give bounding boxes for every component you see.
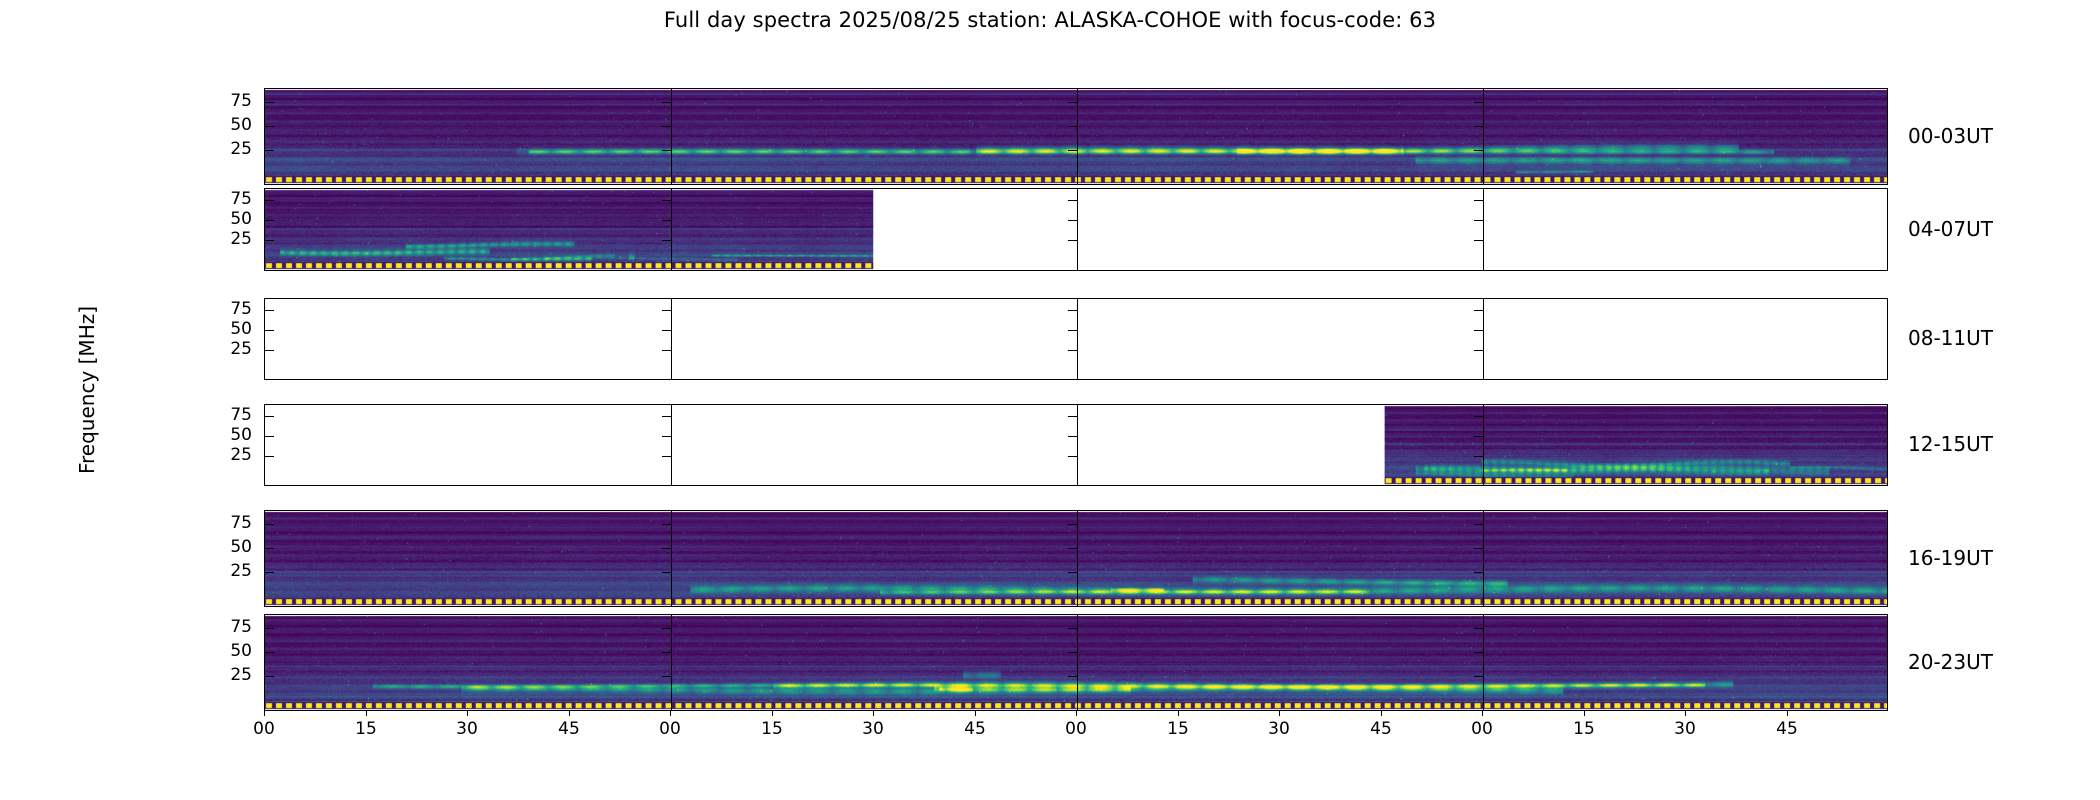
- spectrogram-figure: Full day spectra 2025/08/25 station: ALA…: [0, 0, 2100, 800]
- y-tick-label: 50: [212, 537, 252, 557]
- y-tick-label: 75: [212, 91, 252, 111]
- row-label-20-23ut: 20-23UT: [1908, 650, 1993, 674]
- panel-separator: [1483, 405, 1484, 485]
- y-tick-mark: [1068, 652, 1077, 653]
- y-tick-mark: [265, 126, 274, 127]
- y-tick-mark: [1068, 150, 1077, 151]
- y-tick-mark: [1068, 310, 1077, 311]
- y-tick-mark: [1068, 676, 1077, 677]
- y-tick-mark: [1068, 240, 1077, 241]
- y-tick-mark: [1474, 330, 1483, 331]
- x-tick-label: 45: [1767, 719, 1807, 739]
- x-tick-label: 30: [1665, 719, 1705, 739]
- y-tick-mark: [1068, 456, 1077, 457]
- y-tick-mark: [1068, 350, 1077, 351]
- x-tick-mark: [366, 711, 367, 716]
- y-tick-label: 50: [212, 319, 252, 339]
- x-tick-mark: [1381, 711, 1382, 716]
- y-tick-mark: [265, 416, 274, 417]
- panel-separator: [1077, 299, 1078, 379]
- row-label-16-19ut: 16-19UT: [1908, 546, 1993, 570]
- x-tick-label: 30: [1259, 719, 1299, 739]
- y-tick-mark: [1068, 524, 1077, 525]
- y-tick-mark: [662, 330, 671, 331]
- panel-separator: [1077, 511, 1078, 606]
- y-tick-label: 25: [212, 445, 252, 465]
- y-tick-mark: [662, 220, 671, 221]
- y-tick-mark: [1474, 150, 1483, 151]
- x-tick-mark: [1076, 711, 1077, 716]
- panel-separator: [671, 299, 672, 379]
- y-tick-mark: [1068, 126, 1077, 127]
- y-tick-mark: [662, 548, 671, 549]
- y-tick-mark: [1474, 652, 1483, 653]
- y-tick-mark: [662, 310, 671, 311]
- y-tick-mark: [265, 436, 274, 437]
- y-tick-mark: [265, 220, 274, 221]
- x-tick-label: 00: [650, 719, 690, 739]
- x-tick-mark: [670, 711, 671, 716]
- y-tick-label: 75: [212, 299, 252, 319]
- x-tick-mark: [1279, 711, 1280, 716]
- y-axis-label: Frequency [MHz]: [75, 240, 99, 540]
- y-tick-mark: [1474, 200, 1483, 201]
- y-tick-label: 75: [212, 513, 252, 533]
- x-tick-label: 15: [1158, 719, 1198, 739]
- y-tick-label: 25: [212, 561, 252, 581]
- y-tick-label: 25: [212, 665, 252, 685]
- x-tick-mark: [975, 711, 976, 716]
- x-tick-mark: [873, 711, 874, 716]
- y-tick-mark: [1474, 220, 1483, 221]
- row-label-00-03ut: 00-03UT: [1908, 124, 1993, 148]
- y-tick-mark: [1068, 628, 1077, 629]
- y-tick-mark: [265, 102, 274, 103]
- y-tick-mark: [662, 676, 671, 677]
- panel-separator: [1483, 615, 1484, 710]
- x-tick-mark: [1482, 711, 1483, 716]
- row-label-04-07ut: 04-07UT: [1908, 217, 1993, 241]
- panel-separator: [671, 615, 672, 710]
- y-tick-mark: [662, 652, 671, 653]
- panel-separator: [671, 405, 672, 485]
- y-tick-mark: [662, 416, 671, 417]
- y-tick-mark: [1474, 572, 1483, 573]
- x-tick-label: 45: [1361, 719, 1401, 739]
- y-tick-mark: [265, 548, 274, 549]
- x-tick-mark: [1685, 711, 1686, 716]
- y-tick-mark: [1474, 456, 1483, 457]
- y-tick-mark: [265, 676, 274, 677]
- spectrogram-row-16-19ut: [264, 510, 1888, 607]
- x-tick-mark: [467, 711, 468, 716]
- x-tick-label: 15: [1564, 719, 1604, 739]
- y-tick-mark: [265, 150, 274, 151]
- panel-separator: [1077, 405, 1078, 485]
- x-tick-label: 45: [549, 719, 589, 739]
- y-tick-mark: [265, 456, 274, 457]
- y-tick-label: 75: [212, 405, 252, 425]
- y-tick-mark: [662, 628, 671, 629]
- panel-separator: [1483, 511, 1484, 606]
- spectrogram-row-04-07ut: [264, 188, 1888, 271]
- y-tick-mark: [265, 330, 274, 331]
- y-tick-mark: [1068, 572, 1077, 573]
- y-tick-label: 50: [212, 425, 252, 445]
- y-tick-mark: [1474, 240, 1483, 241]
- x-tick-label: 15: [752, 719, 792, 739]
- x-tick-mark: [772, 711, 773, 716]
- x-tick-mark: [264, 711, 265, 716]
- panel-separator: [1483, 89, 1484, 184]
- y-tick-mark: [662, 200, 671, 201]
- y-tick-label: 25: [212, 339, 252, 359]
- y-tick-label: 50: [212, 641, 252, 661]
- y-tick-mark: [265, 524, 274, 525]
- y-tick-mark: [265, 572, 274, 573]
- y-tick-mark: [1474, 416, 1483, 417]
- panel-separator: [671, 189, 672, 270]
- y-tick-mark: [662, 436, 671, 437]
- x-tick-label: 30: [447, 719, 487, 739]
- y-tick-mark: [265, 310, 274, 311]
- y-tick-mark: [265, 200, 274, 201]
- y-tick-label: 25: [212, 139, 252, 159]
- y-tick-mark: [1068, 436, 1077, 437]
- x-tick-mark: [1178, 711, 1179, 716]
- y-tick-mark: [1474, 524, 1483, 525]
- x-tick-label: 00: [1056, 719, 1096, 739]
- y-tick-mark: [265, 652, 274, 653]
- y-tick-mark: [1474, 628, 1483, 629]
- y-tick-mark: [662, 524, 671, 525]
- y-tick-label: 25: [212, 229, 252, 249]
- panel-separator: [671, 511, 672, 606]
- spectrogram-row-12-15ut: [264, 404, 1888, 486]
- y-tick-mark: [1474, 548, 1483, 549]
- y-tick-mark: [265, 240, 274, 241]
- panel-separator: [1077, 189, 1078, 270]
- y-tick-label: 50: [212, 209, 252, 229]
- y-tick-mark: [662, 102, 671, 103]
- x-tick-mark: [569, 711, 570, 716]
- x-tick-mark: [1584, 711, 1585, 716]
- y-tick-mark: [1068, 416, 1077, 417]
- y-tick-mark: [265, 350, 274, 351]
- y-tick-mark: [1474, 102, 1483, 103]
- panel-separator: [671, 89, 672, 184]
- y-tick-label: 50: [212, 115, 252, 135]
- x-tick-label: 30: [853, 719, 893, 739]
- x-tick-label: 00: [1462, 719, 1502, 739]
- row-label-12-15ut: 12-15UT: [1908, 432, 1993, 456]
- panel-separator: [1483, 189, 1484, 270]
- y-tick-mark: [1068, 330, 1077, 331]
- row-label-08-11ut: 08-11UT: [1908, 326, 1993, 350]
- y-tick-mark: [1068, 200, 1077, 201]
- x-tick-label: 15: [346, 719, 386, 739]
- y-tick-mark: [265, 628, 274, 629]
- y-tick-mark: [662, 126, 671, 127]
- panel-separator: [1483, 299, 1484, 379]
- x-tick-mark: [1787, 711, 1788, 716]
- spectrogram-row-08-11ut: [264, 298, 1888, 380]
- figure-title: Full day spectra 2025/08/25 station: ALA…: [0, 8, 2100, 32]
- y-tick-mark: [662, 456, 671, 457]
- x-tick-label: 45: [955, 719, 995, 739]
- y-tick-mark: [662, 240, 671, 241]
- y-tick-mark: [1474, 350, 1483, 351]
- panel-separator: [1077, 89, 1078, 184]
- panel-separator: [1077, 615, 1078, 710]
- spectrogram-row-20-23ut: [264, 614, 1888, 711]
- y-tick-label: 75: [212, 189, 252, 209]
- y-tick-mark: [662, 350, 671, 351]
- y-tick-mark: [1068, 548, 1077, 549]
- y-tick-mark: [1474, 310, 1483, 311]
- y-tick-label: 75: [212, 617, 252, 637]
- y-tick-mark: [1474, 676, 1483, 677]
- y-tick-mark: [1474, 436, 1483, 437]
- y-tick-mark: [1474, 126, 1483, 127]
- x-tick-label: 00: [244, 719, 284, 739]
- y-tick-mark: [1068, 102, 1077, 103]
- y-tick-mark: [662, 150, 671, 151]
- y-tick-mark: [1068, 220, 1077, 221]
- spectrogram-row-00-03ut: [264, 88, 1888, 185]
- y-tick-mark: [662, 572, 671, 573]
